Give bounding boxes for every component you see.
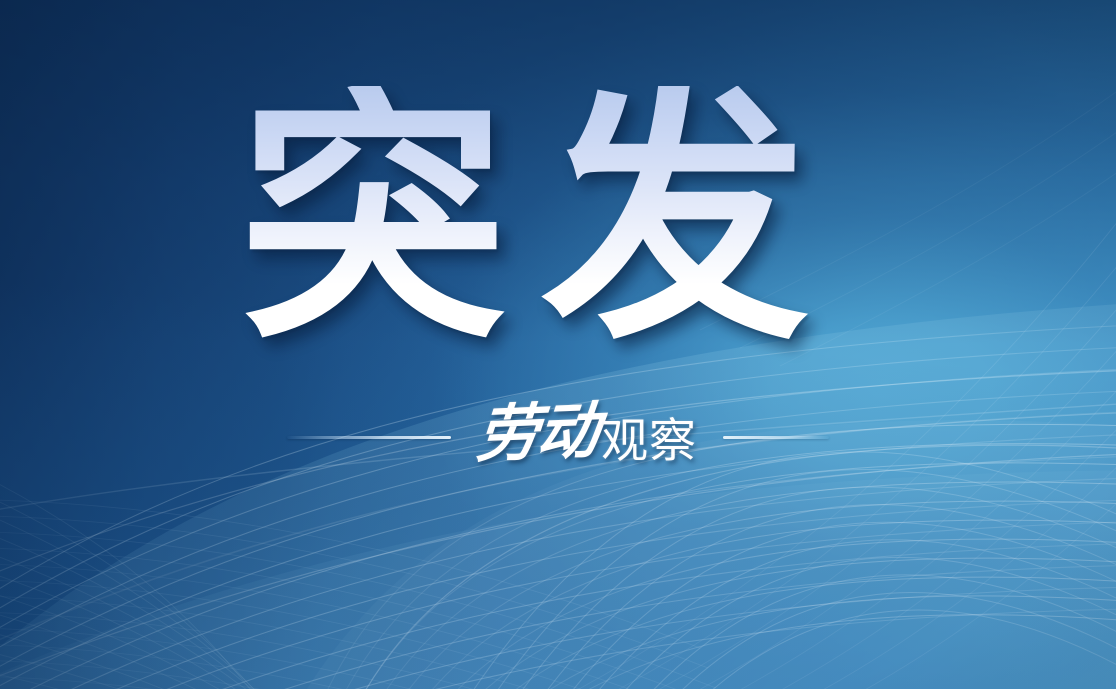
left-decorative-rule xyxy=(287,436,451,439)
right-decorative-rule xyxy=(723,436,829,439)
brand-lockup: 劳动 观察 xyxy=(0,398,1116,476)
brand-script-text: 劳动 xyxy=(474,400,600,467)
brand-regular-text: 观察 xyxy=(601,418,697,465)
vignette-overlay xyxy=(0,0,1116,689)
news-banner-card: 突发 劳动 观察 xyxy=(0,0,1116,689)
